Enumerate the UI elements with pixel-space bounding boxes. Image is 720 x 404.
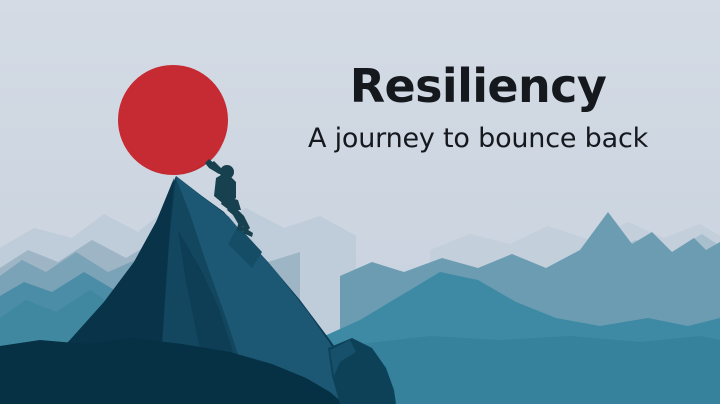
mountain-illustration <box>0 0 720 404</box>
slide-canvas: Resiliency A journey to bounce back <box>0 0 720 404</box>
